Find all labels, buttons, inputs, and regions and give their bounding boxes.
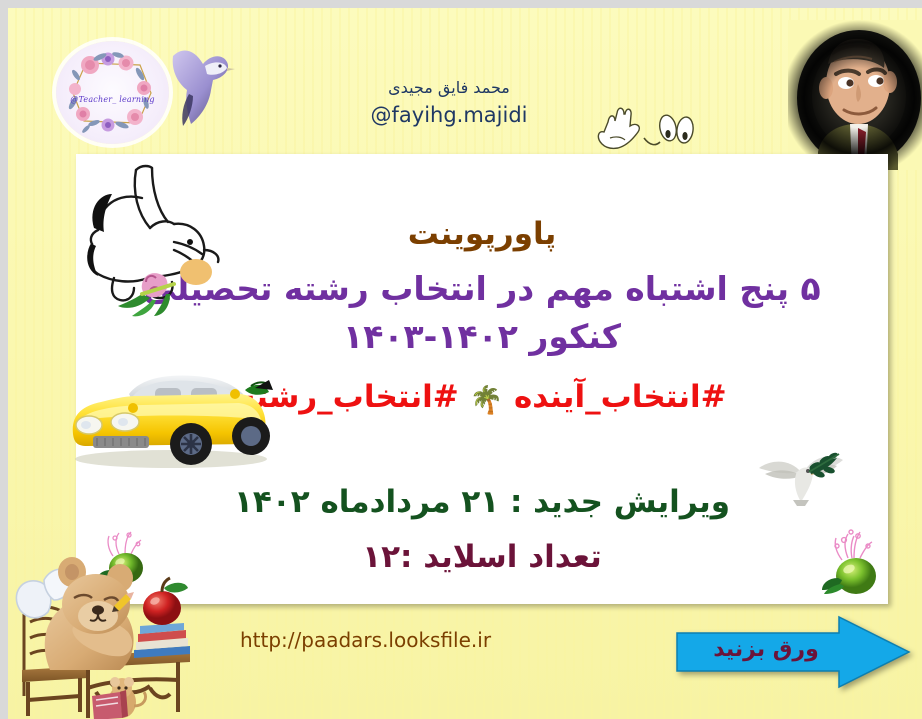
peace-dove-icon	[753, 446, 848, 508]
line-konkur-year: کنکور ۱۴۰۲-۱۴۰۳	[76, 317, 888, 356]
green-apple-sparkle-icon	[818, 528, 890, 600]
palm-tree-icon: 🌴	[470, 385, 504, 416]
flying-bird-icon	[165, 38, 243, 138]
next-page-button[interactable]: ورق بزنید	[673, 615, 913, 689]
author-handle: @fayihg.majidi	[339, 103, 559, 127]
yellow-sports-car	[63, 360, 278, 472]
teddy-bear-desk-art	[10, 520, 200, 719]
logo-label: @Teacher_ learning	[56, 95, 169, 104]
hashtag-future: #انتخاب_آینده	[514, 379, 727, 415]
rabbit-line-art	[78, 158, 258, 318]
website-url[interactable]: http://paadars.looksfile.ir	[240, 628, 491, 652]
author-name: محمد فایق مجیدی	[339, 78, 559, 97]
logo-wreath-icon	[56, 41, 169, 144]
floral-logo-icon: @Teacher_ learning	[56, 41, 169, 144]
waving-hand-icon	[588, 104, 698, 156]
mr-bean-vignette	[788, 20, 922, 170]
presentation-slide: @Teacher_ learning	[0, 0, 922, 719]
mr-bean-portrait	[788, 20, 922, 170]
next-arrow-icon	[673, 615, 913, 689]
